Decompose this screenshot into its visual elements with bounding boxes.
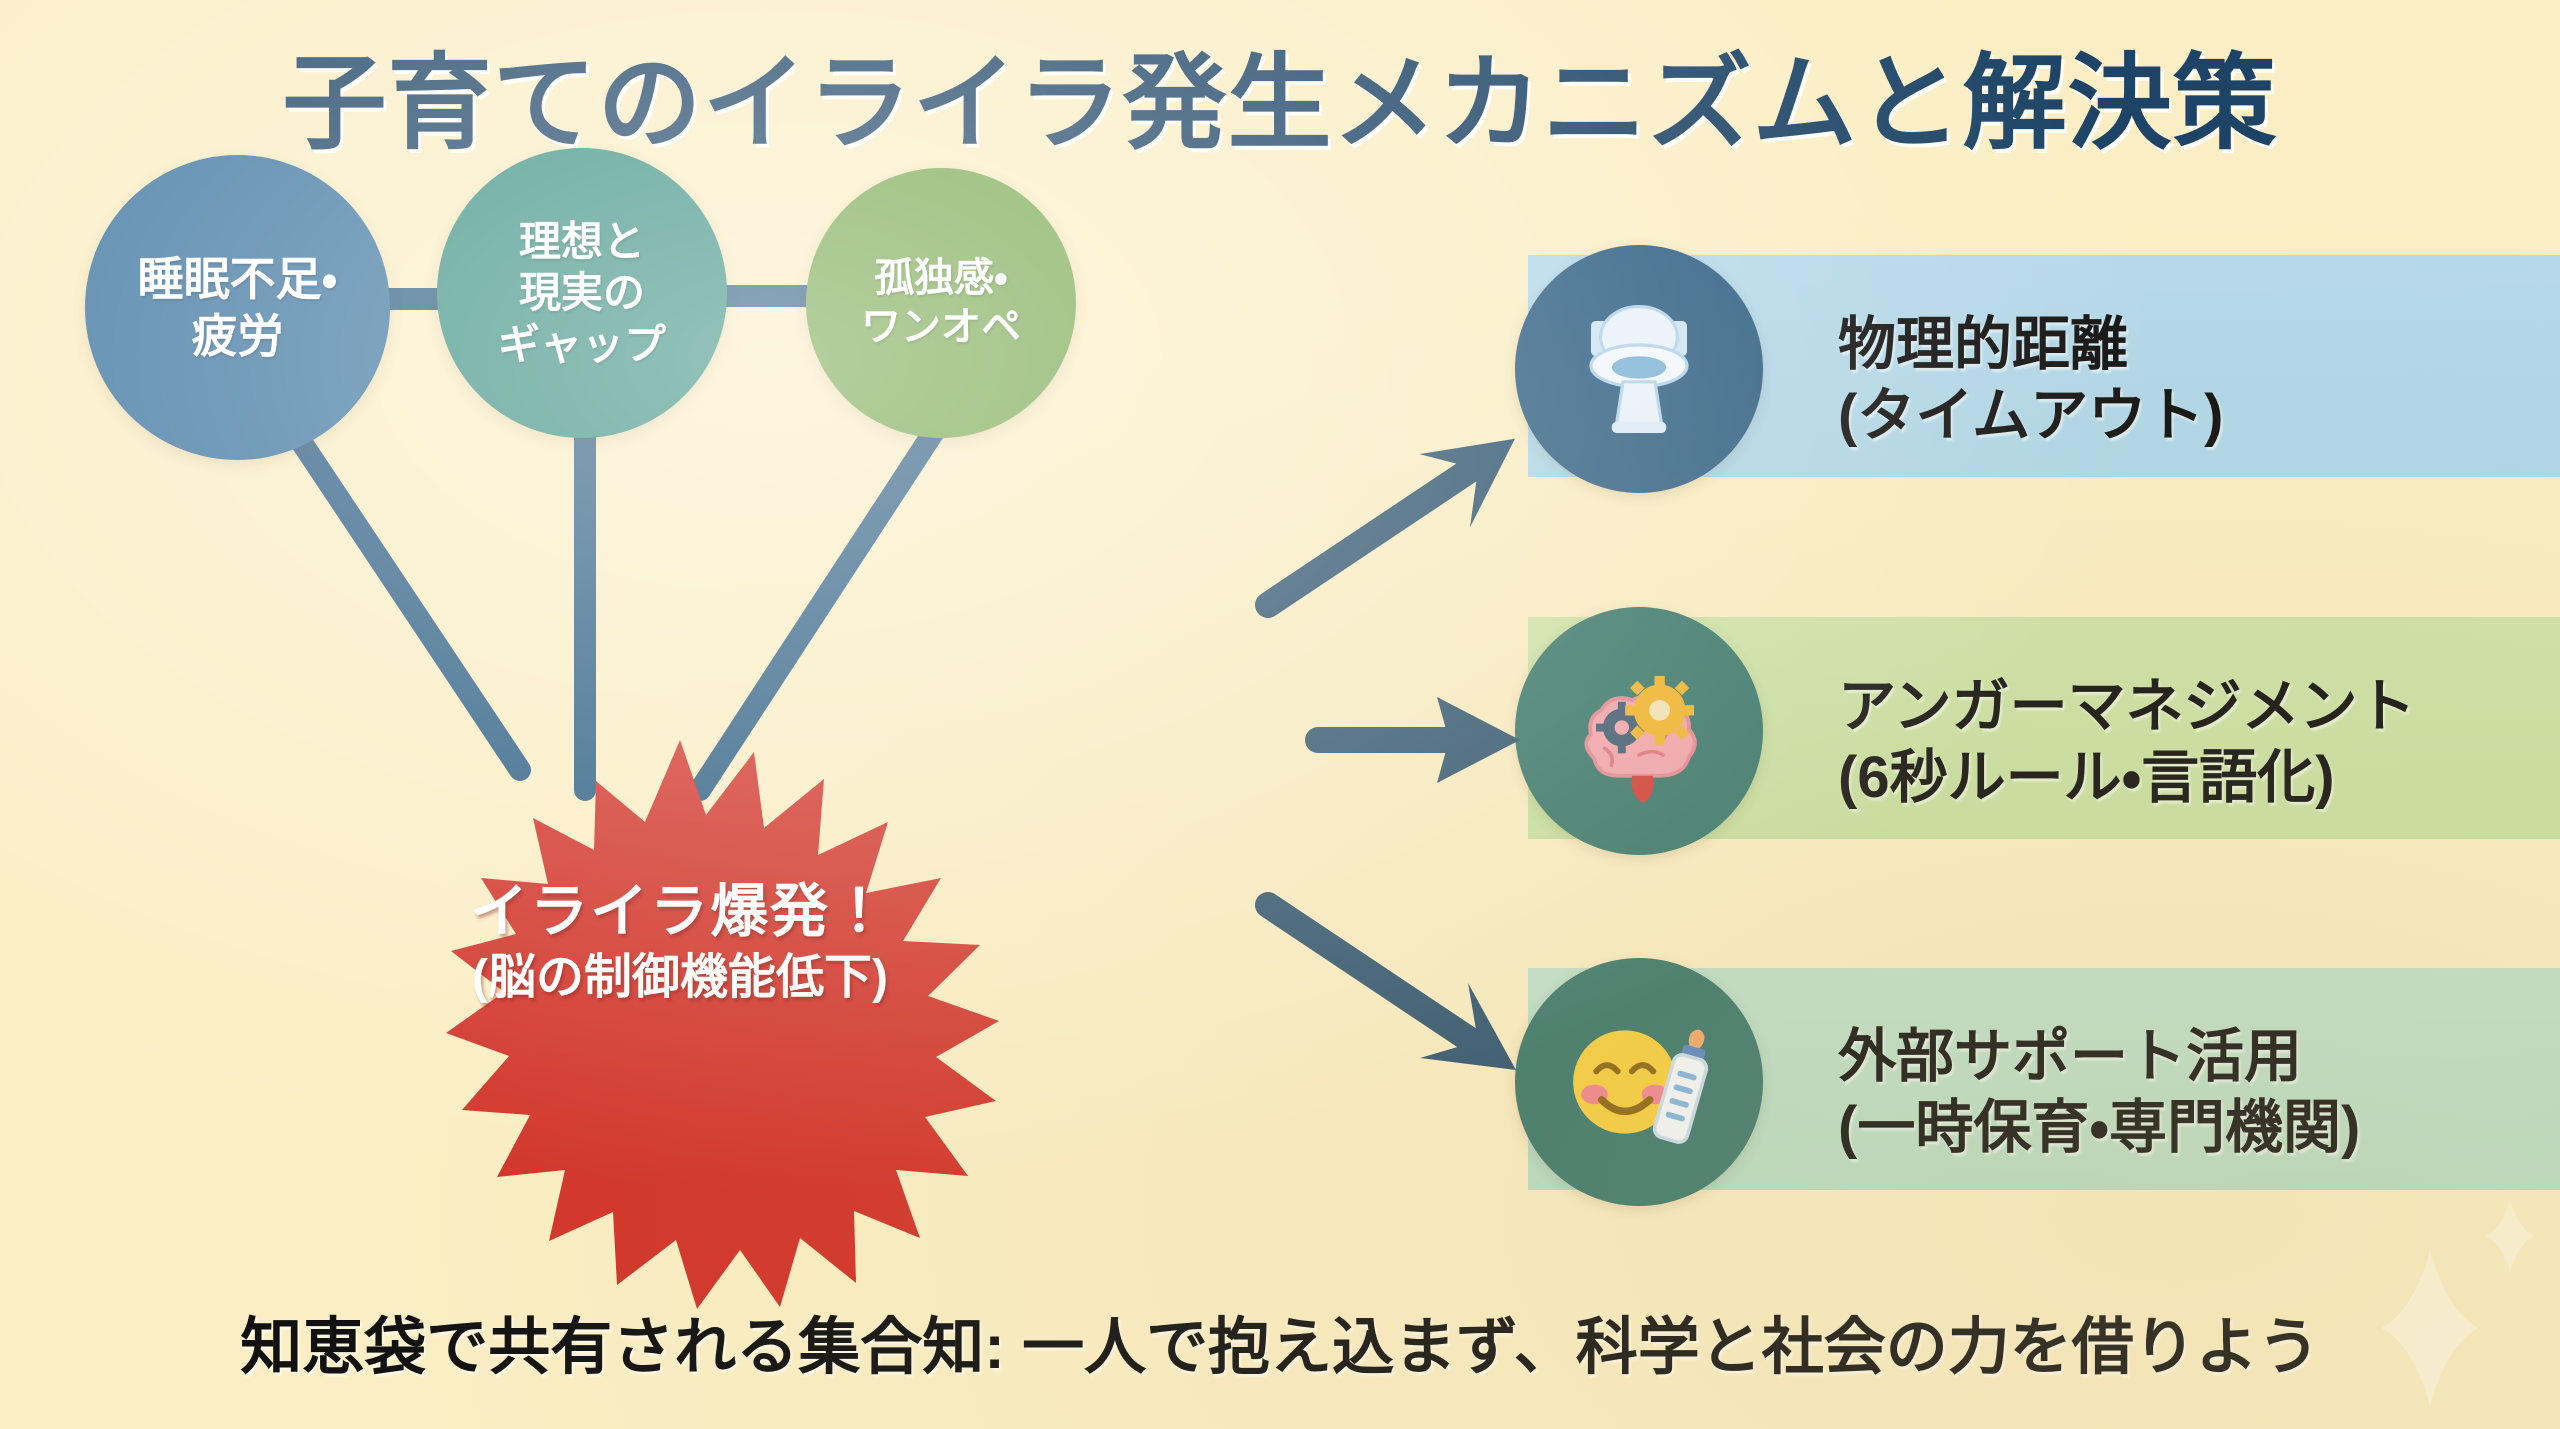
infographic-canvas: 子育てのイライラ発生メカニズムと解決策 睡眠不足・ 疲労 理想と [0,0,2560,1429]
sparkle-icon-small [2486,1200,2534,1272]
page-title: 子育てのイライラ発生メカニズムと解決策 [0,18,2560,169]
decorative-sparkles [0,0,2560,1429]
footer-caption: 知恵袋で共有される集合知: 一人で抱え込まず、科学と社会の力を借りよう [0,1296,2560,1386]
